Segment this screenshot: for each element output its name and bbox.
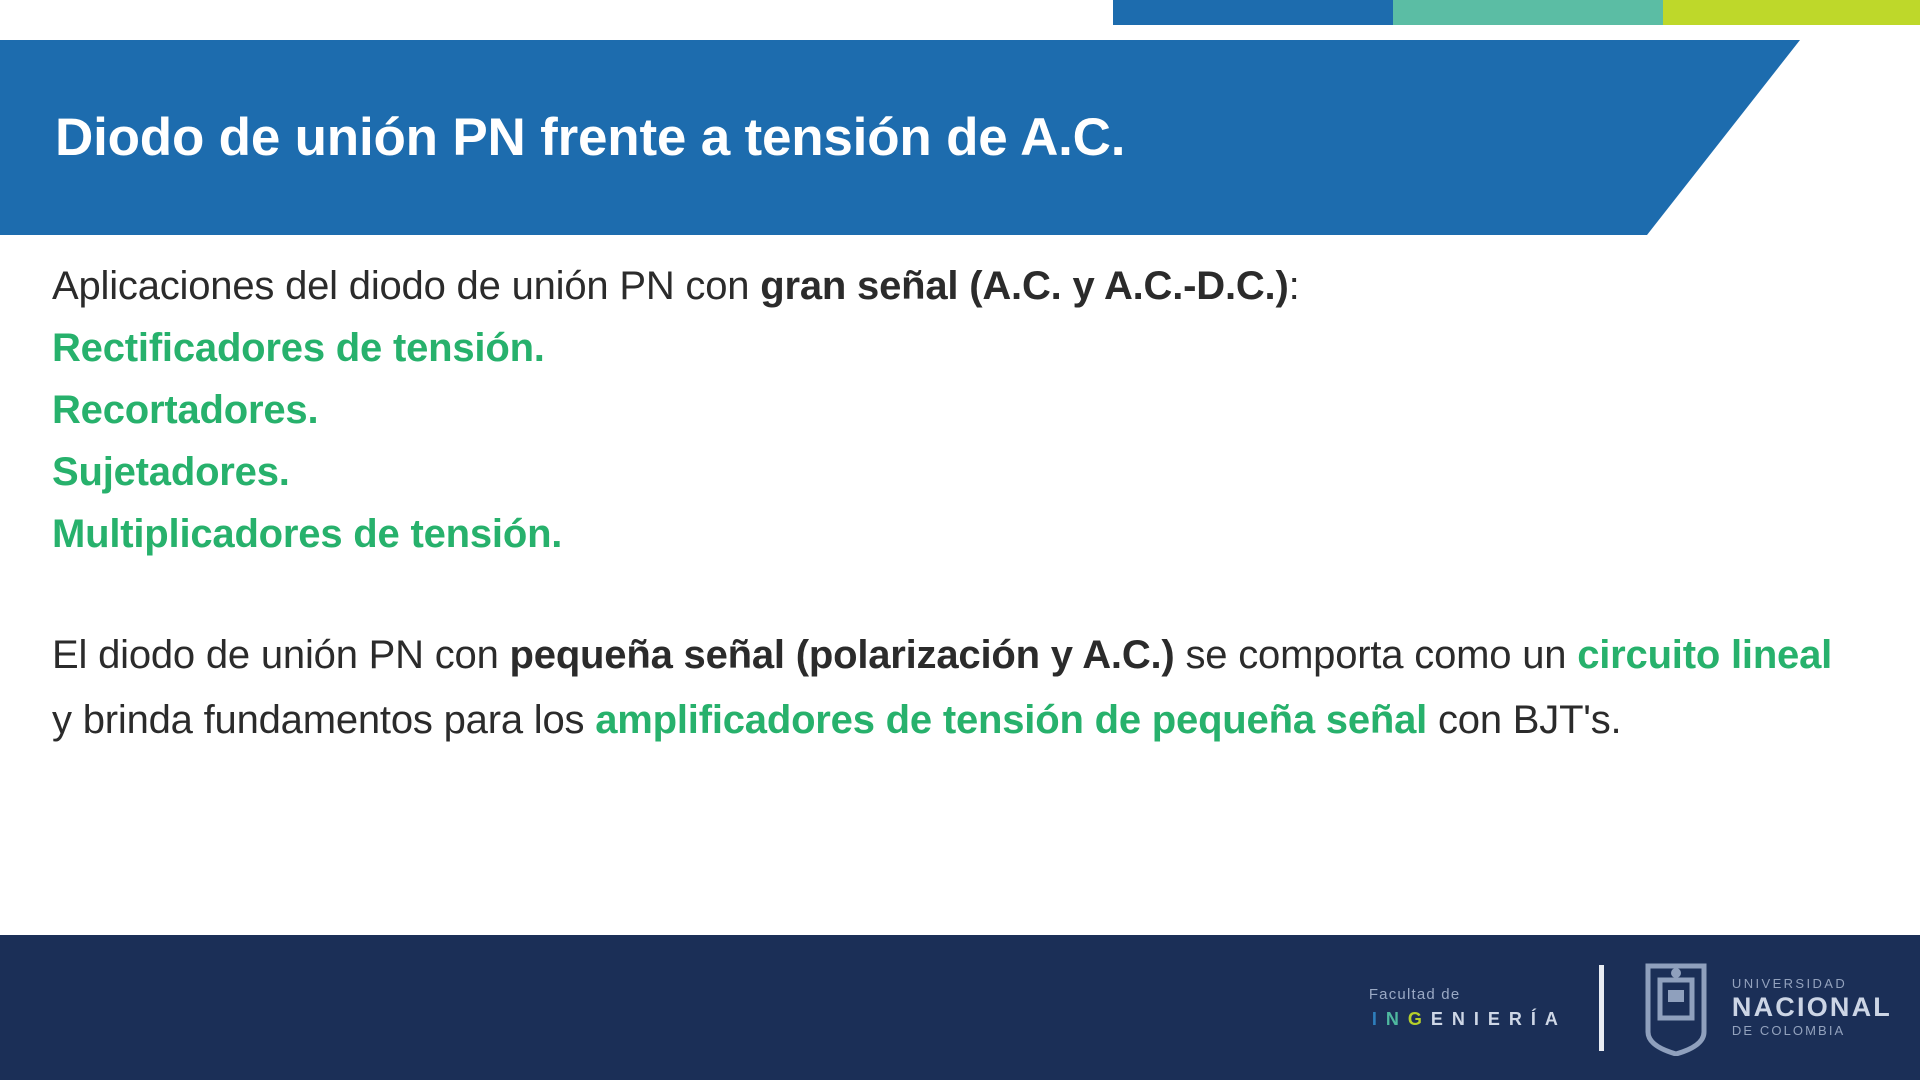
footer-logo-group: Facultad de I N G E N I E R Í A — [1369, 935, 1892, 1080]
faculty-letter: R — [1506, 1009, 1525, 1029]
faculty-letter: E — [1485, 1009, 1503, 1029]
para-seg-2-bold: pequeña señal (polarización y A.C.) — [510, 633, 1175, 677]
page-title: Diodo de unión PN frente a tensión de A.… — [0, 107, 1125, 168]
faculty-letter: N — [1383, 1009, 1402, 1029]
slide-body: Aplicaciones del diodo de unión PN con g… — [52, 255, 1862, 753]
footer-divider — [1599, 965, 1604, 1051]
university-shield-icon — [1640, 960, 1712, 1056]
para-seg-7: con BJT's. — [1427, 698, 1621, 742]
intro-bold-1: gran señal (A.C. y A.C.-D.C.) — [760, 264, 1288, 308]
intro-plain-1: Aplicaciones del diodo de unión PN con — [52, 264, 760, 308]
faculty-letter: I — [1369, 1009, 1380, 1029]
faculty-letter: Í — [1528, 1009, 1539, 1029]
accent-segment-teal — [1393, 0, 1663, 25]
accent-segment-blue — [1113, 0, 1393, 25]
faculty-letter: I — [1471, 1009, 1482, 1029]
presentation-slide: Diodo de unión PN frente a tensión de A.… — [0, 0, 1920, 1080]
paragraph-spacer — [52, 565, 1862, 623]
slide-title-band: Diodo de unión PN frente a tensión de A.… — [0, 40, 1800, 235]
intro-line: Aplicaciones del diodo de unión PN con g… — [52, 255, 1862, 317]
university-line-2: NACIONAL — [1732, 992, 1892, 1024]
slide-footer: Facultad de I N G E N I E R Í A — [0, 935, 1920, 1080]
para-seg-6-highlight: amplificadores de tensión de pequeña señ… — [595, 698, 1427, 742]
university-line-1: UNIVERSIDAD — [1732, 976, 1892, 991]
university-line-3: DE COLOMBIA — [1732, 1023, 1892, 1038]
accent-segment-lime — [1663, 0, 1920, 25]
para-seg-4-highlight: circuito lineal — [1577, 633, 1832, 677]
faculty-letter: N — [1449, 1009, 1468, 1029]
body-paragraph: El diodo de unión PN con pequeña señal (… — [52, 623, 1842, 753]
list-item: Rectificadores de tensión. — [52, 317, 1862, 379]
para-seg-3: se comporta como un — [1175, 633, 1578, 677]
faculty-letter: E — [1428, 1009, 1446, 1029]
faculty-letter: A — [1542, 1009, 1561, 1029]
faculty-letter: G — [1405, 1009, 1425, 1029]
university-wordmark: UNIVERSIDAD NACIONAL DE COLOMBIA — [1732, 976, 1892, 1039]
intro-plain-2: : — [1289, 264, 1300, 308]
list-item: Recortadores. — [52, 379, 1862, 441]
university-logo: UNIVERSIDAD NACIONAL DE COLOMBIA — [1640, 960, 1892, 1056]
para-seg-1: El diodo de unión PN con — [52, 633, 510, 677]
top-accent-bar — [1113, 0, 1920, 25]
para-seg-5: y brinda fundamentos para los — [52, 698, 595, 742]
list-item: Multiplicadores de tensión. — [52, 503, 1862, 565]
faculty-top-label: Facultad de — [1369, 987, 1561, 1002]
faculty-logo: Facultad de I N G E N I E R Í A — [1369, 987, 1561, 1029]
faculty-wordmark: I N G E N I E R Í A — [1369, 1009, 1561, 1029]
list-item: Sujetadores. — [52, 441, 1862, 503]
